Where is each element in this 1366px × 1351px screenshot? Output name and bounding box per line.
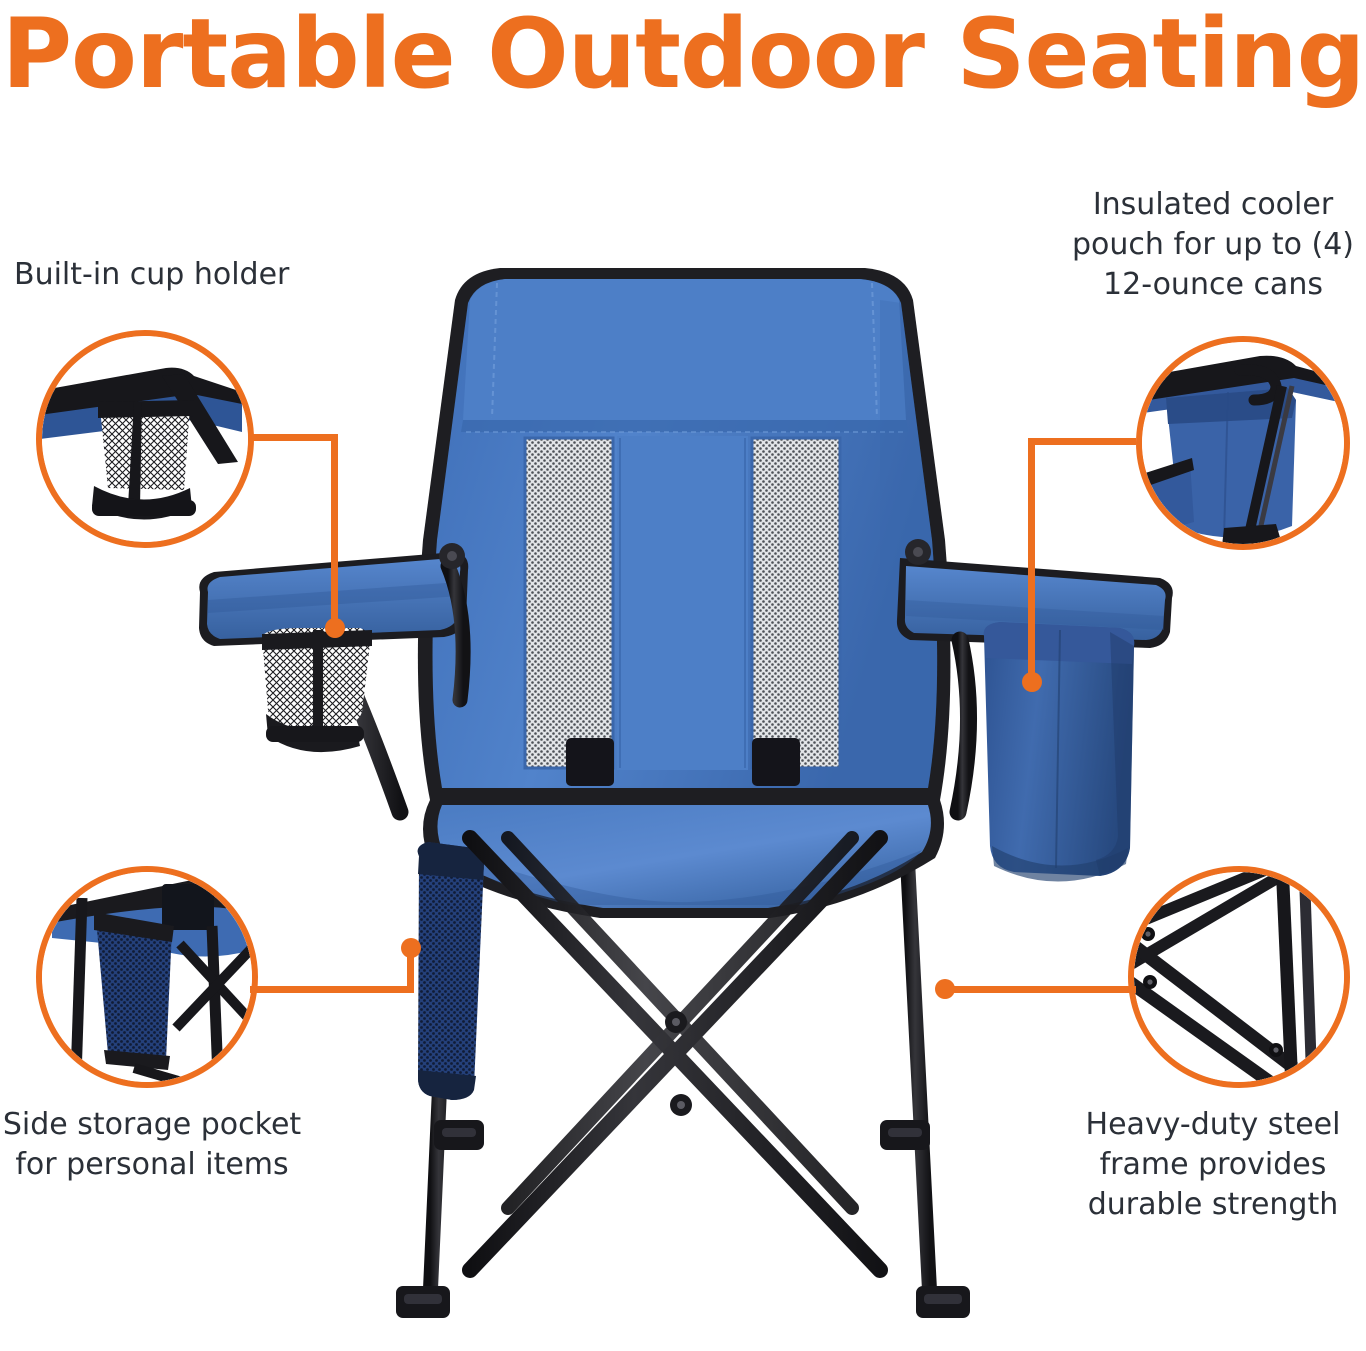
connector-line-cooler-pouch-vertical bbox=[1028, 438, 1035, 680]
connector-dot-cooler-pouch bbox=[1022, 672, 1042, 692]
detail-circle-side-pocket bbox=[36, 866, 258, 1088]
mesh-cup-holder bbox=[262, 628, 372, 752]
connector-line-side-pocket-horizontal bbox=[250, 986, 414, 993]
connector-dot-cup-holder bbox=[325, 618, 345, 638]
detail-circle-cooler-pouch bbox=[1136, 336, 1350, 550]
connector-dot-side-pocket bbox=[401, 938, 421, 958]
infographic-root: Portable Outdoor Seating bbox=[0, 0, 1366, 1351]
callout-label-cooler-pouch: Insulated cooler pouch for up to (4) 12-… bbox=[1066, 185, 1360, 305]
callout-label-steel-frame: Heavy-duty steel frame provides durable … bbox=[1066, 1105, 1360, 1225]
connector-dot-steel-frame bbox=[935, 979, 955, 999]
callout-label-side-pocket: Side storage pocket for personal items bbox=[2, 1105, 302, 1185]
chair-plastic-feet bbox=[396, 1120, 970, 1318]
chair-backrest bbox=[418, 268, 951, 800]
connector-line-steel-frame-horizontal bbox=[944, 986, 1136, 993]
connector-line-cooler-pouch-horizontal bbox=[1028, 438, 1136, 445]
connector-line-cup-holder-horizontal bbox=[248, 434, 338, 441]
detail-circle-steel-frame bbox=[1128, 866, 1350, 1088]
side-storage-pocket bbox=[418, 842, 485, 1100]
connector-line-cup-holder-vertical bbox=[331, 434, 338, 628]
callout-label-cup-holder: Built-in cup holder bbox=[14, 255, 344, 295]
insulated-cooler-pouch bbox=[984, 622, 1134, 882]
detail-circle-cup-holder bbox=[36, 330, 254, 548]
